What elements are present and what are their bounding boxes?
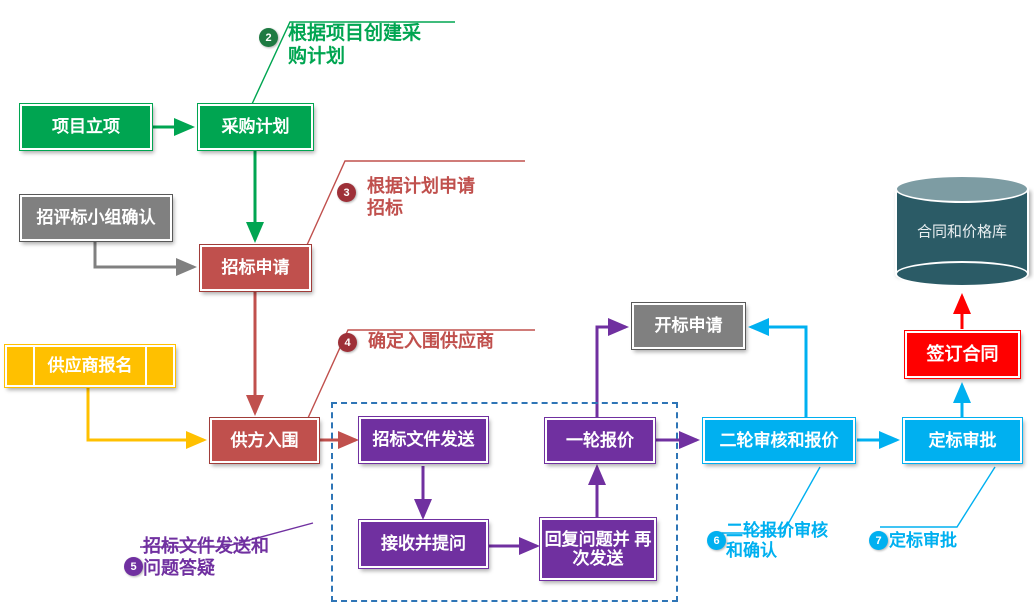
node-label: 定标审批 [905,431,1020,450]
edge-round2-to-openbid [751,327,806,418]
edge-signup-to-shortlist [88,386,204,440]
flowchart-canvas: 项目立项 采购计划 招评标小组确认 招标申请 供应商报名 供方入围 招标文件发送… [0,0,1034,603]
node-label: 招评标小组确认 [22,208,170,227]
node-contract-price-db[interactable]: 合同和价格库 [895,175,1029,287]
node-supplier-shortlist[interactable]: 供方入围 [210,418,319,463]
callout-text: 招标文件发送和 问题答疑 [143,536,363,579]
callout-badge: 7 [869,531,888,550]
node-label: 签订合同 [907,344,1018,364]
node-receive-ask[interactable]: 接收并提问 [359,520,488,568]
node-round2-review-quote[interactable]: 二轮审核和报价 [703,418,855,463]
callout-text: 根据项目创建采 购计划 [288,23,508,69]
node-label: 招标申请 [202,258,309,277]
node-label: 一轮报价 [547,431,653,450]
node-open-bid-application[interactable]: 开标申请 [632,303,745,349]
node-award-approval[interactable]: 定标审批 [903,418,1022,463]
node-bid-group-confirm[interactable]: 招评标小组确认 [20,195,172,241]
node-bid-application[interactable]: 招标申请 [200,245,311,291]
callout-badge: 3 [337,183,356,202]
cylinder-top [895,175,1029,203]
callout-text: 定标审批 [889,531,1034,551]
node-label: 合同和价格库 [895,221,1029,242]
node-label: 开标申请 [634,316,743,335]
node-project-setup[interactable]: 项目立项 [20,104,152,150]
node-label: 招标文件发送 [361,430,486,449]
node-round1-quote[interactable]: 一轮报价 [545,418,655,463]
node-purchase-plan[interactable]: 采购计划 [198,104,313,150]
callout-badge: 5 [124,557,143,576]
callout-badge: 4 [338,333,357,352]
callout-badge: 2 [259,28,278,47]
node-label: 项目立项 [22,117,150,136]
node-label: 供方入围 [212,431,317,450]
node-sign-contract[interactable]: 签订合同 [905,331,1020,378]
node-label: 回复问题并 再次发送 [542,530,654,568]
node-supplier-signup[interactable]: 供应商报名 [5,345,175,387]
callout-badge: 6 [707,531,726,550]
node-label: 采购计划 [200,117,311,136]
callout-text: 根据计划申请 招标 [367,176,587,219]
cylinder-bottom [895,261,1029,287]
node-label: 二轮审核和报价 [705,431,853,450]
node-label: 供应商报名 [7,356,173,375]
node-reply-resend[interactable]: 回复问题并 再次发送 [540,518,656,580]
node-doc-send[interactable]: 招标文件发送 [359,417,488,463]
callout-text: 确定入围供应商 [368,331,608,353]
callout-text: 二轮报价审核 和确认 [726,521,886,562]
node-label: 接收并提问 [361,534,486,553]
callout-leader-7 [880,467,995,527]
